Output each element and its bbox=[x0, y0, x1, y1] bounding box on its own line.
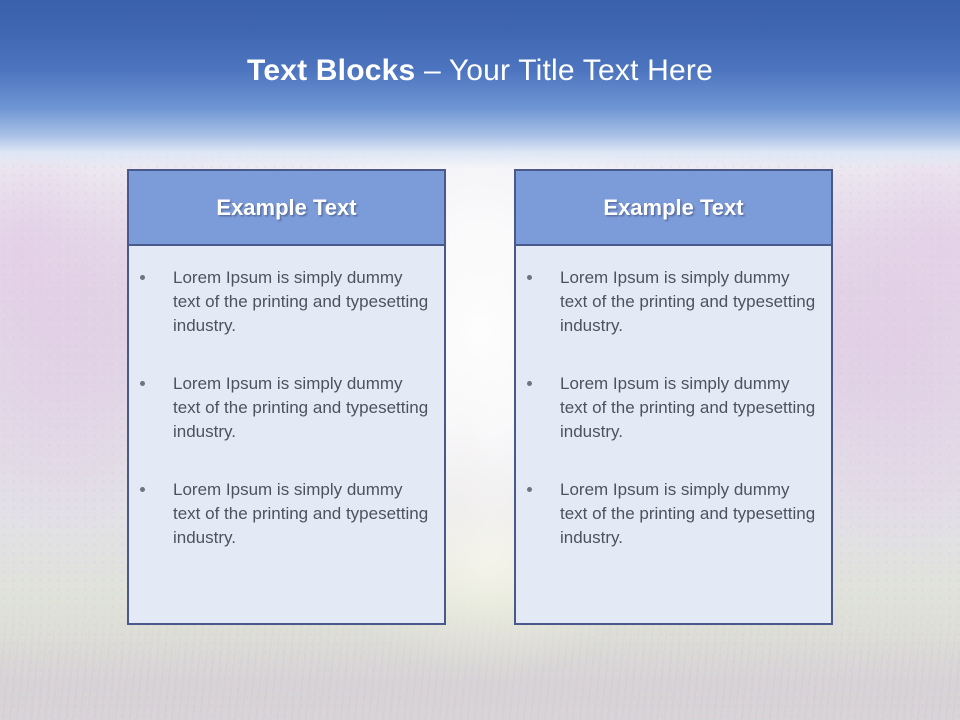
bullet-dot-icon bbox=[140, 275, 145, 280]
bullet-dot-icon bbox=[527, 275, 532, 280]
list-item: Lorem Ipsum is simply dummy text of the … bbox=[524, 478, 819, 550]
list-item: Lorem Ipsum is simply dummy text of the … bbox=[137, 372, 432, 444]
text-block-right[interactable]: Example Text Lorem Ipsum is simply dummy… bbox=[514, 169, 833, 625]
bullet-dot-icon bbox=[140, 487, 145, 492]
page-title-light: Your Title Text Here bbox=[449, 54, 713, 87]
list-item-text: Lorem Ipsum is simply dummy text of the … bbox=[560, 480, 815, 547]
list-item-text: Lorem Ipsum is simply dummy text of the … bbox=[560, 374, 815, 441]
text-block-left-body: Lorem Ipsum is simply dummy text of the … bbox=[129, 246, 444, 623]
list-item-text: Lorem Ipsum is simply dummy text of the … bbox=[173, 268, 428, 335]
list-item: Lorem Ipsum is simply dummy text of the … bbox=[524, 372, 819, 444]
text-block-right-header: Example Text bbox=[516, 171, 831, 246]
bullet-list-left: Lorem Ipsum is simply dummy text of the … bbox=[137, 266, 432, 550]
bullet-dot-icon bbox=[527, 381, 532, 386]
slide-canvas: Text Blocks – Your Title Text Here Examp… bbox=[0, 0, 960, 720]
list-item-text: Lorem Ipsum is simply dummy text of the … bbox=[560, 268, 815, 335]
list-item-text: Lorem Ipsum is simply dummy text of the … bbox=[173, 374, 428, 441]
text-block-left-header-label: Example Text bbox=[216, 195, 356, 221]
list-item: Lorem Ipsum is simply dummy text of the … bbox=[137, 266, 432, 338]
text-block-left-header: Example Text bbox=[129, 171, 444, 246]
list-item: Lorem Ipsum is simply dummy text of the … bbox=[524, 266, 819, 338]
bullet-dot-icon bbox=[527, 487, 532, 492]
bullet-list-right: Lorem Ipsum is simply dummy text of the … bbox=[524, 266, 819, 550]
list-item-text: Lorem Ipsum is simply dummy text of the … bbox=[173, 480, 428, 547]
page-title: Text Blocks – Your Title Text Here bbox=[0, 53, 960, 89]
text-block-left[interactable]: Example Text Lorem Ipsum is simply dummy… bbox=[127, 169, 446, 625]
page-title-separator: – bbox=[424, 54, 449, 87]
text-block-right-body: Lorem Ipsum is simply dummy text of the … bbox=[516, 246, 831, 623]
list-item: Lorem Ipsum is simply dummy text of the … bbox=[137, 478, 432, 550]
text-block-right-header-label: Example Text bbox=[603, 195, 743, 221]
page-title-strong: Text Blocks bbox=[247, 54, 424, 87]
bullet-dot-icon bbox=[140, 381, 145, 386]
